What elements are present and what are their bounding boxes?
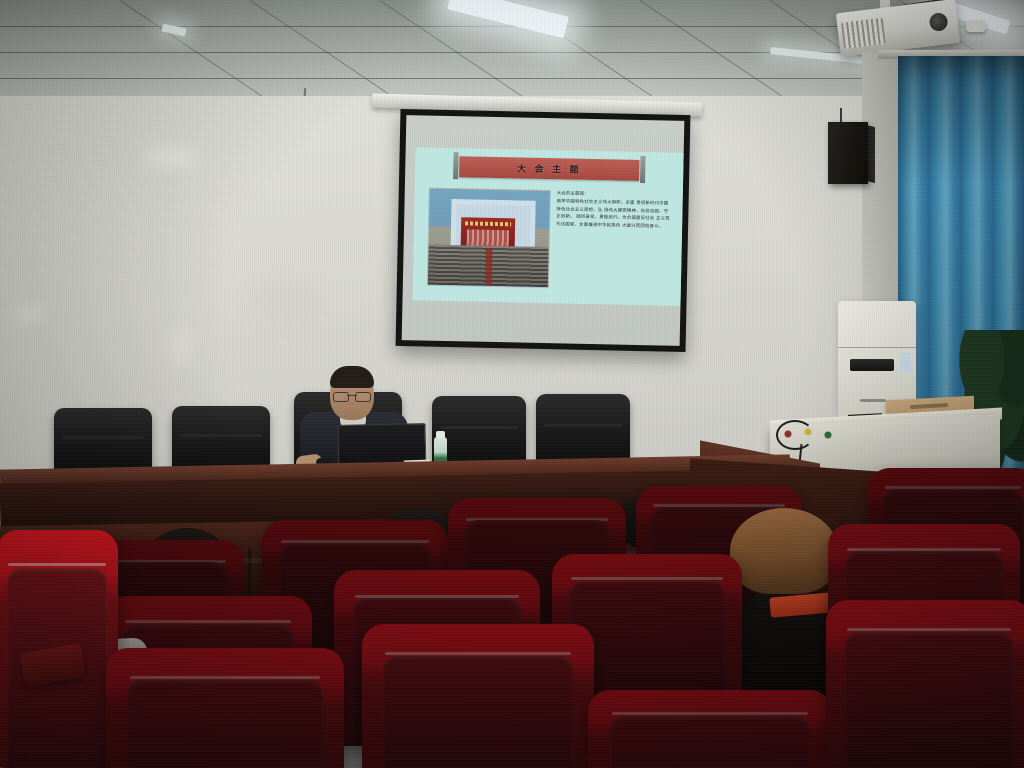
ceiling-light-1 <box>447 0 569 38</box>
wall-speaker <box>828 122 868 184</box>
exec-chair-5[interactable] <box>536 394 630 466</box>
slide-title-banner: 大 会 主 题 <box>459 156 639 181</box>
projector-vents <box>841 18 886 49</box>
screen-surface: 大 会 主 题 大会的主题是： 高举中国特色社会主义伟大旗帜，全面 贯彻新时代中… <box>402 115 685 346</box>
slide-body-text: 大会的主题是： 高举中国特色社会主义伟大旗帜，全面 贯彻新时代中国特色社会主义思… <box>556 190 673 230</box>
slide-body-line-5: 大复兴而团结奋斗。 <box>622 223 663 229</box>
water-bottle-cap <box>436 431 445 438</box>
slide-body-lead: 大会的主题是： <box>557 190 673 200</box>
slide-title: 大 会 主 题 <box>459 156 639 181</box>
presentation-slide: 大 会 主 题 大会的主题是： 高举中国特色社会主义伟大旗帜，全面 贯彻新时代中… <box>413 147 684 306</box>
slide-body-line-3: 踔厉奋发、勇毅前行，为全面建设社会 <box>576 215 654 222</box>
air-conditioner-display <box>900 353 911 373</box>
air-conditioner-vent <box>850 359 894 371</box>
slide-congress-hall-photo <box>427 188 551 289</box>
presenter-hair <box>330 366 374 388</box>
projector-lens-icon <box>929 12 949 32</box>
audience-seat-r1-4[interactable] <box>588 690 832 768</box>
presenter-glasses-icon <box>333 392 371 400</box>
conference-room-photo: 大 会 主 题 大会的主题是： 高举中国特色社会主义伟大旗帜，全面 贯彻新时代中… <box>0 0 1024 768</box>
exec-chair-2[interactable] <box>172 406 270 472</box>
audience-seat-r1-2[interactable] <box>106 648 344 768</box>
audience-seat-r1-5[interactable] <box>826 600 1024 768</box>
coiled-cable <box>776 420 814 450</box>
exec-chair-1[interactable] <box>54 408 152 474</box>
projector-screen[interactable]: 大 会 主 题 大会的主题是： 高举中国特色社会主义伟大旗帜，全面 贯彻新时代中… <box>396 109 691 352</box>
smoke-detector-icon <box>966 20 986 32</box>
audience-seat-r1-3[interactable] <box>362 624 594 768</box>
slide-body-line-0: 高举中国特色社会主义伟大旗帜，全面 <box>557 200 635 207</box>
attendee-beret-woman-head <box>730 508 838 594</box>
